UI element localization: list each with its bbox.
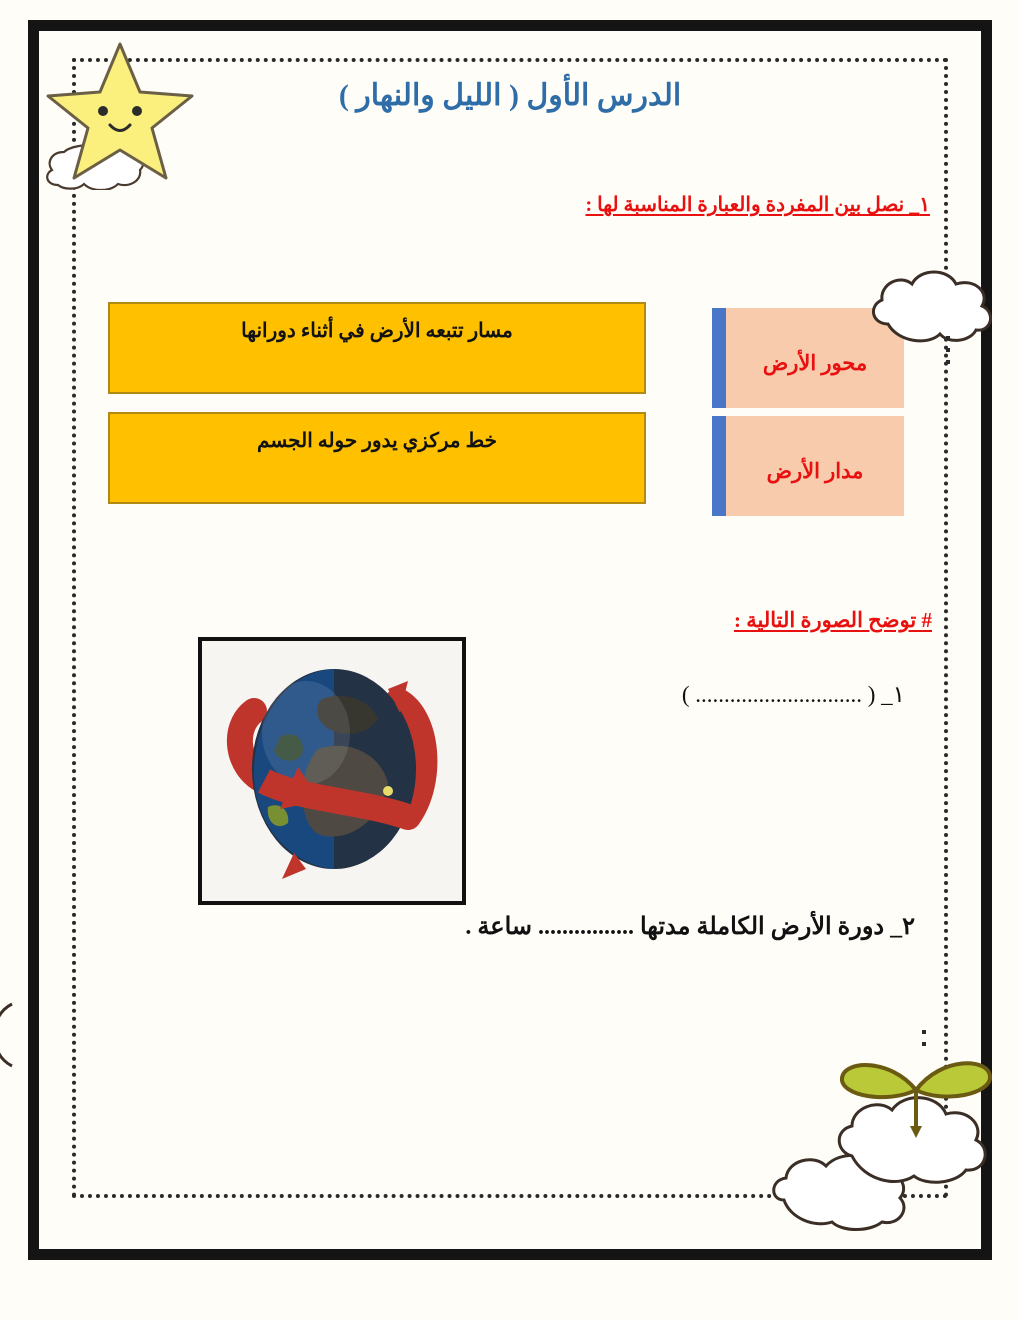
page-title: الدرس الأول ( الليل والنهار ) <box>0 78 1020 113</box>
definition-box-1[interactable]: مسار تتبعه الأرض في أثناء دورانها <box>108 302 646 394</box>
worksheet-page: الدرس الأول ( الليل والنهار ) ١_ نصل بين… <box>0 0 1020 1320</box>
definition-box-1-label: مسار تتبعه الأرض في أثناء دورانها <box>110 304 644 343</box>
question-2-heading: # توضح الصورة التالية : <box>734 608 932 633</box>
term-box-1[interactable]: محور الأرض <box>712 308 904 408</box>
definition-box-2-label: خط مركزي يدور حوله الجسم <box>110 414 644 453</box>
definition-box-2[interactable]: خط مركزي يدور حوله الجسم <box>108 412 646 504</box>
term-box-2[interactable]: مدار الأرض <box>712 416 904 516</box>
page-edge-arc-icon <box>0 1000 26 1070</box>
term-box-1-label: محور الأرض <box>763 351 867 376</box>
earth-rotation-image <box>198 637 466 905</box>
question-1-heading: ١_ نصل بين المفردة والعبارة المناسبة لها… <box>585 192 930 217</box>
answer-line-2[interactable]: ٢_ دورة الأرض الكاملة مدتها ............… <box>465 912 915 941</box>
term-box-2-label: مدار الأرض <box>767 459 864 484</box>
answer-line-1[interactable]: ١_ ( ............................. ) <box>682 682 905 708</box>
